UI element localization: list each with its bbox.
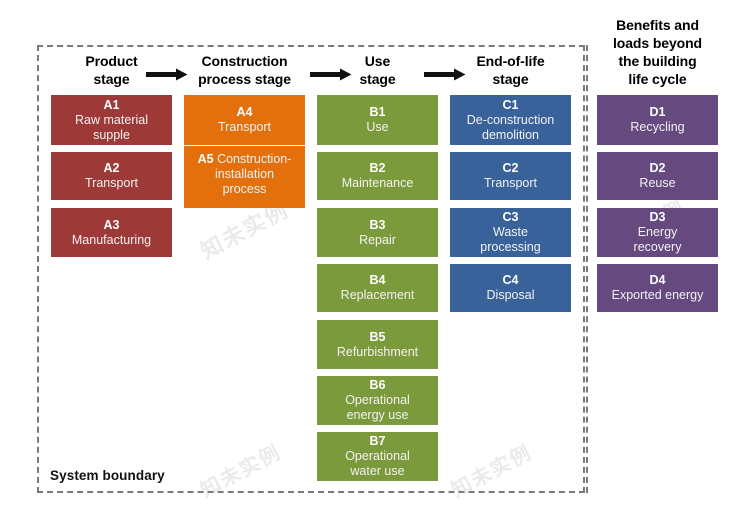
stage-box-label: Manufacturing bbox=[72, 233, 151, 248]
stage-box-b2[interactable]: B2Maintenance bbox=[317, 152, 438, 200]
stage-box-label: Maintenance bbox=[342, 176, 414, 191]
stage-box-label: Replacement bbox=[341, 288, 415, 303]
stage-box-label: Operationalwater use bbox=[345, 449, 410, 479]
stage-box-c4[interactable]: C4Disposal bbox=[450, 264, 571, 312]
lca-stages-diagram: System boundary 知未实例 知未实例 知未实例 知未实例 Prod… bbox=[0, 0, 750, 509]
stage-box-code: A3 bbox=[104, 218, 120, 233]
stage-box-code: D4 bbox=[650, 273, 666, 288]
stage-box-code: B4 bbox=[370, 273, 386, 288]
column-header-construction-process-stage: Constructionprocess stage bbox=[184, 52, 305, 88]
stage-box-c1[interactable]: C1De-constructiondemolition bbox=[450, 95, 571, 145]
stage-box-code: B5 bbox=[370, 330, 386, 345]
arrow-right-icon bbox=[146, 68, 188, 81]
stage-box-d2[interactable]: D2Reuse bbox=[597, 152, 718, 200]
stage-box-label: Exported energy bbox=[612, 288, 704, 303]
stage-box-a4[interactable]: A4Transport bbox=[184, 95, 305, 145]
stage-box-a1[interactable]: A1Raw materialsupple bbox=[51, 95, 172, 145]
stage-box-b7[interactable]: B7Operationalwater use bbox=[317, 432, 438, 481]
stage-box-label: Use bbox=[366, 120, 388, 135]
stage-box-code: B6 bbox=[370, 378, 386, 393]
stage-box-code: C1 bbox=[503, 98, 519, 113]
stage-box-label: Reuse bbox=[639, 176, 675, 191]
arrow-right-icon bbox=[424, 68, 466, 81]
stage-box-code: A5 bbox=[198, 152, 214, 166]
stage-box-code: B2 bbox=[370, 161, 386, 176]
stage-box-code: D3 bbox=[650, 210, 666, 225]
column-header-end-of-life-stage: End-of-lifestage bbox=[450, 52, 571, 88]
stage-box-c3[interactable]: C3Wasteprocessing bbox=[450, 208, 571, 257]
stage-box-d1[interactable]: D1Recycling bbox=[597, 95, 718, 145]
stage-box-b3[interactable]: B3Repair bbox=[317, 208, 438, 257]
stage-box-label: Refurbishment bbox=[337, 345, 418, 360]
column-header-benefits-and-loads: Benefits andloads beyondthe buildinglife… bbox=[597, 16, 718, 88]
stage-box-a2[interactable]: A2Transport bbox=[51, 152, 172, 200]
stage-box-label: Transport bbox=[484, 176, 537, 191]
stage-box-d3[interactable]: D3Energyrecovery bbox=[597, 208, 718, 257]
stage-box-b5[interactable]: B5Refurbishment bbox=[317, 320, 438, 369]
stage-box-code: A1 bbox=[104, 98, 120, 113]
stage-box-code: D2 bbox=[650, 161, 666, 176]
arrow-right-icon bbox=[310, 68, 352, 81]
stage-box-code: D1 bbox=[650, 105, 666, 120]
stage-box-code: B3 bbox=[370, 218, 386, 233]
stage-box-label: Wasteprocessing bbox=[480, 225, 540, 255]
stage-box-c2[interactable]: C2Transport bbox=[450, 152, 571, 200]
stage-box-label: Construction-installationprocess bbox=[215, 152, 291, 196]
stage-box-b6[interactable]: B6Operationalenergy use bbox=[317, 376, 438, 425]
stage-box-label: Operationalenergy use bbox=[345, 393, 410, 423]
stage-box-label: Recycling bbox=[630, 120, 684, 135]
stage-box-label: Disposal bbox=[487, 288, 535, 303]
stage-box-code: C3 bbox=[503, 210, 519, 225]
stage-box-label: De-constructiondemolition bbox=[467, 113, 555, 143]
stage-box-code: A2 bbox=[104, 161, 120, 176]
stage-box-b4[interactable]: B4Replacement bbox=[317, 264, 438, 312]
stage-box-code: C2 bbox=[503, 161, 519, 176]
beyond-boundary-divider bbox=[586, 45, 588, 493]
stage-box-a5[interactable]: A5 Construction-installationprocess bbox=[184, 146, 305, 208]
stage-box-b1[interactable]: B1Use bbox=[317, 95, 438, 145]
stage-box-label: Transport bbox=[218, 120, 271, 135]
stage-box-code: C4 bbox=[503, 273, 519, 288]
stage-box-a3[interactable]: A3Manufacturing bbox=[51, 208, 172, 257]
stage-box-label: Raw materialsupple bbox=[75, 113, 148, 143]
stage-box-label: Repair bbox=[359, 233, 396, 248]
stage-box-code: B1 bbox=[370, 105, 386, 120]
stage-box-code: A4 bbox=[237, 105, 253, 120]
stage-box-label: Transport bbox=[85, 176, 138, 191]
system-boundary-label: System boundary bbox=[50, 468, 165, 483]
stage-box-d4[interactable]: D4Exported energy bbox=[597, 264, 718, 312]
stage-box-label: Energyrecovery bbox=[634, 225, 682, 255]
stage-box-code: B7 bbox=[370, 434, 386, 449]
